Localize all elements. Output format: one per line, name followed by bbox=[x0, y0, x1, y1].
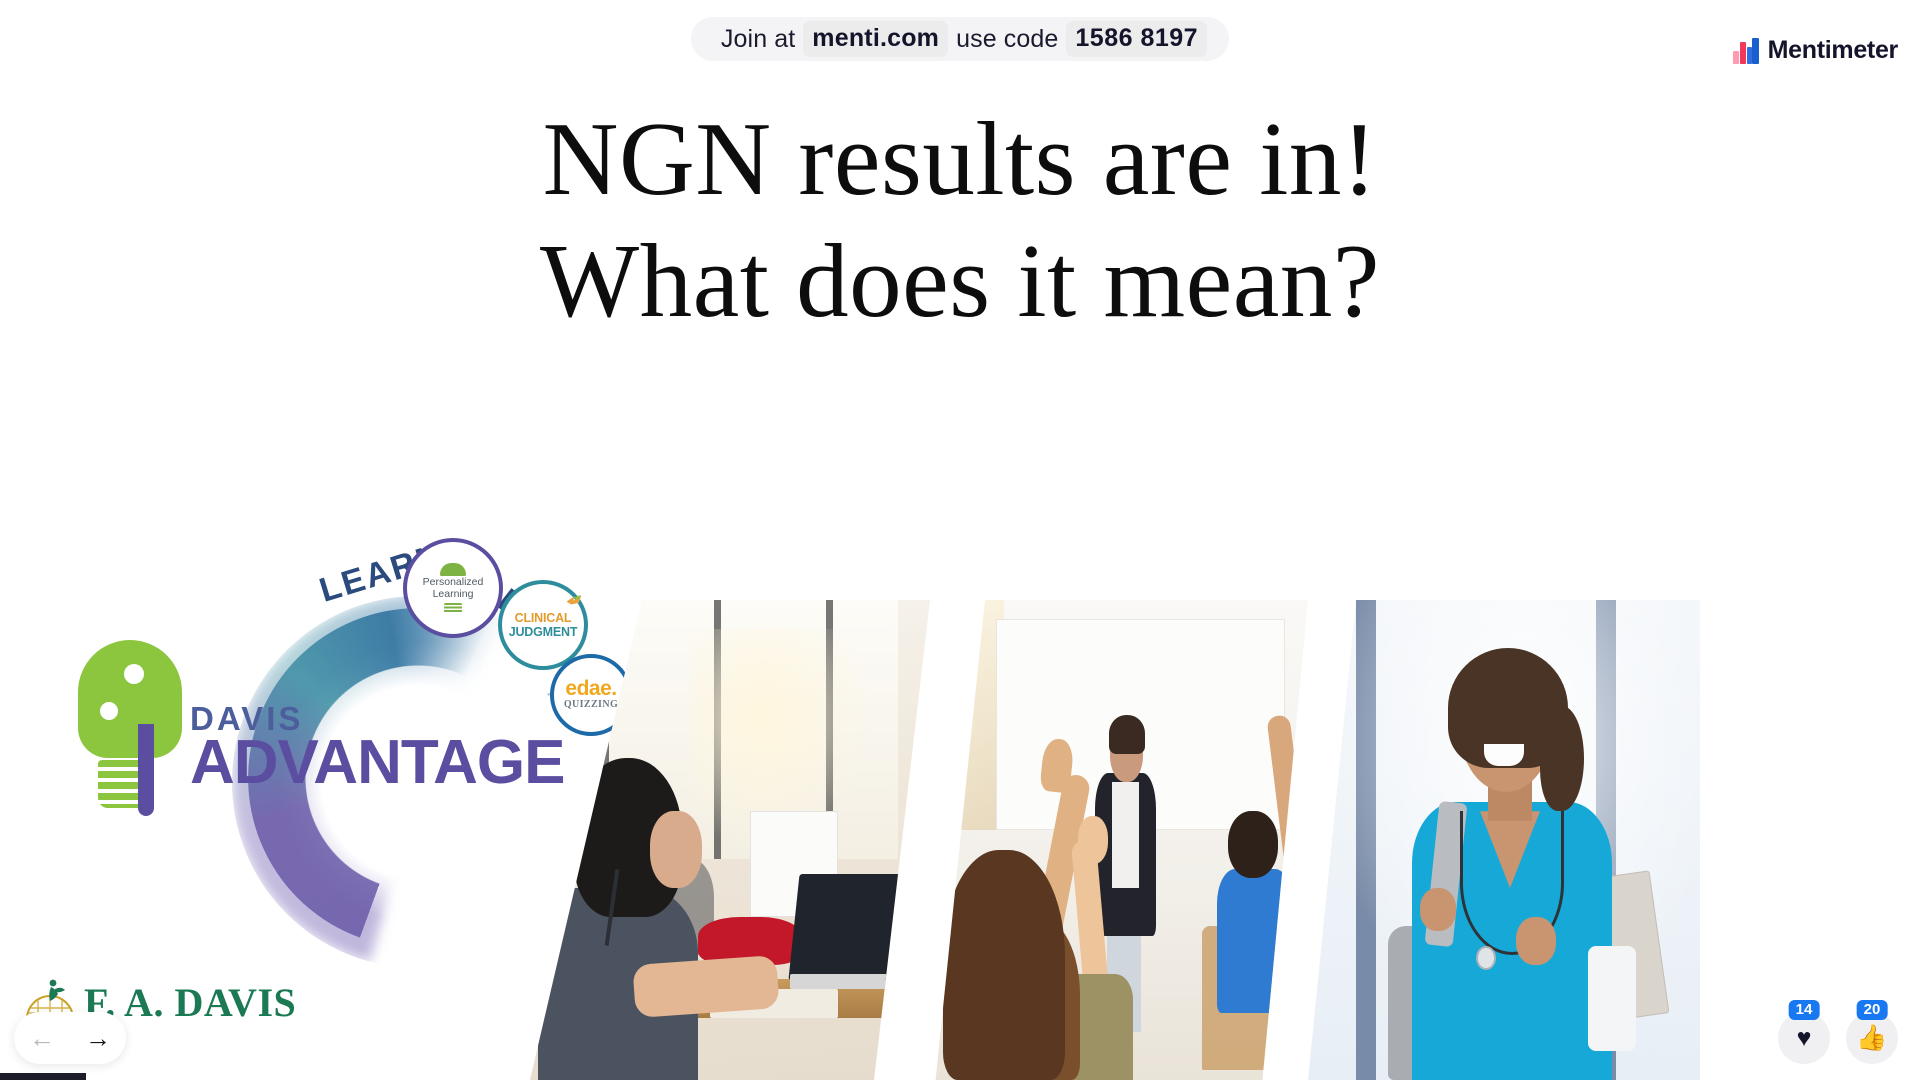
advantage-lightbulb-icon bbox=[78, 640, 182, 820]
slide-navigation: ← → bbox=[14, 1012, 126, 1064]
photo-classroom-hands bbox=[928, 600, 1308, 1080]
menti-domain-chip[interactable]: menti.com bbox=[803, 21, 948, 57]
wordmark-advantage: ADVANTAGE bbox=[190, 735, 564, 791]
bubble-personalized-learning: Personalized Learning bbox=[403, 538, 503, 638]
reaction-heart-button[interactable]: 14 ♥ bbox=[1778, 1012, 1830, 1064]
mentimeter-wordmark: Mentimeter bbox=[1768, 36, 1898, 65]
arrow-right-icon[interactable]: → bbox=[85, 1025, 111, 1051]
thumbs-up-count-badge: 20 bbox=[1857, 1000, 1888, 1020]
photo-nurse-portrait bbox=[1300, 600, 1700, 1080]
bubble-label-line1: edae. bbox=[565, 680, 616, 699]
title-line-1: NGN results are in! bbox=[0, 98, 1920, 220]
bubble-label-line2: QUIZZING bbox=[564, 699, 618, 710]
presentation-slide: Join at menti.com use code 1586 8197 Men… bbox=[0, 0, 1920, 1080]
use-code-label: use code bbox=[948, 25, 1066, 54]
slide-progress-fill bbox=[0, 1073, 86, 1080]
mentimeter-logo: Mentimeter bbox=[1733, 36, 1898, 65]
thumbs-up-icon: 👍 bbox=[1856, 1026, 1887, 1051]
davis-advantage-wordmark: DAVIS ADVANTAGE bbox=[190, 700, 564, 791]
lightbulb-icon bbox=[440, 563, 466, 576]
join-instruction-bar: Join at menti.com use code 1586 8197 bbox=[691, 17, 1229, 61]
reaction-bar: 14 ♥ 20 👍 bbox=[1778, 1012, 1898, 1064]
photo-collage bbox=[640, 600, 1920, 1080]
join-at-label: Join at bbox=[713, 25, 803, 54]
bubble-label-line2: JUDGMENT bbox=[509, 625, 578, 639]
lightbulb-base-icon bbox=[444, 603, 462, 613]
title-line-2: What does it mean? bbox=[0, 220, 1920, 342]
reaction-thumbs-up-button[interactable]: 20 👍 bbox=[1846, 1012, 1898, 1064]
bubble-label-line2: Learning bbox=[433, 589, 474, 601]
heart-icon: ♥ bbox=[1797, 1026, 1812, 1051]
bird-icon bbox=[565, 593, 583, 607]
bubble-label-line1: CLINICAL bbox=[515, 611, 572, 625]
arrow-left-icon[interactable]: ← bbox=[29, 1025, 55, 1051]
mentimeter-bars-icon bbox=[1733, 38, 1759, 64]
slide-progress-track[interactable] bbox=[0, 1073, 1920, 1080]
heart-count-badge: 14 bbox=[1789, 1000, 1820, 1020]
slide-title: NGN results are in! What does it mean? bbox=[0, 98, 1920, 342]
join-code-chip[interactable]: 1586 8197 bbox=[1066, 21, 1207, 57]
